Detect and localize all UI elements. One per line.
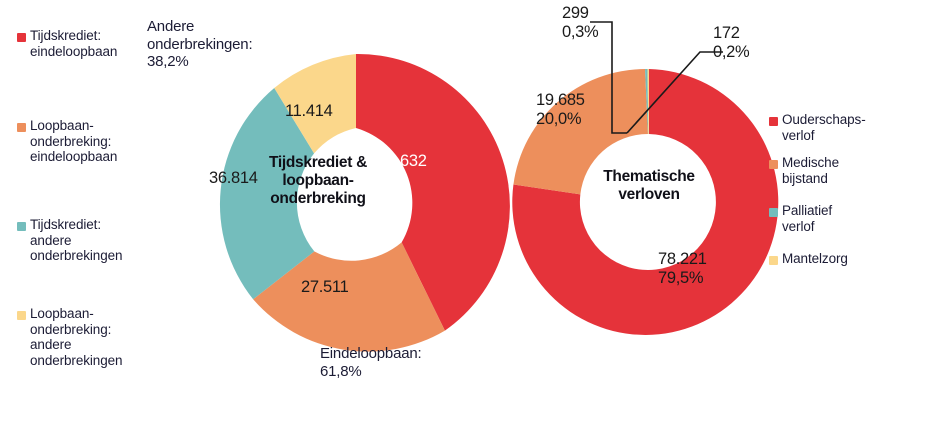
legend-label-ouderschapsverlof: Ouderschaps- verlof xyxy=(782,112,866,143)
legend-swatch-red xyxy=(769,117,778,126)
right-value-red: 78.221 79,5% xyxy=(658,250,707,288)
left-value-red: 50.632 xyxy=(378,152,427,171)
legend-label-palliatief-verlof: Palliatief verlof xyxy=(782,203,832,234)
legend-item-tijdskrediet-andere[interactable]: Tijdskrediet: andere onderbrekingen xyxy=(17,217,122,264)
right-value-teal: 299 0,3% xyxy=(562,4,598,42)
legend-item-loopbaanonderbreking-eindeloopbaan[interactable]: Loopbaan- onderbreking: eindeloopbaan xyxy=(17,118,117,165)
chart-page: Tijdskrediet: eindeloopbaan Loopbaan- on… xyxy=(0,0,945,428)
legend-label-tijdskrediet-eindeloopbaan: Tijdskrediet: eindeloopbaan xyxy=(30,28,117,59)
legend-label-loopbaanonderbreking-andere: Loopbaan- onderbreking: andere onderbrek… xyxy=(30,306,122,368)
legend-item-palliatief-verlof[interactable]: Palliatief verlof xyxy=(769,203,832,234)
legend-swatch-red xyxy=(17,33,26,42)
left-value-orange: 27.511 xyxy=(301,278,348,297)
legend-label-medische-bijstand: Medische bijstand xyxy=(782,155,839,186)
right-donut-center-label: Thematische verloven xyxy=(573,168,725,204)
legend-item-mantelzorg[interactable]: Mantelzorg xyxy=(769,251,848,267)
left-donut-center-label: Tijdskrediet & loopbaan- onderbreking xyxy=(257,154,379,208)
legend-swatch-orange xyxy=(769,160,778,169)
left-annotation-eindeloopbaan: Eindeloopbaan: 61,8% xyxy=(320,345,421,380)
legend-item-loopbaanonderbreking-andere[interactable]: Loopbaan- onderbreking: andere onderbrek… xyxy=(17,306,122,368)
legend-swatch-orange xyxy=(17,123,26,132)
legend-item-ouderschapsverlof[interactable]: Ouderschaps- verlof xyxy=(769,112,866,143)
legend-label-loopbaanonderbreking-eindeloopbaan: Loopbaan- onderbreking: eindeloopbaan xyxy=(30,118,117,165)
legend-item-medische-bijstand[interactable]: Medische bijstand xyxy=(769,155,839,186)
left-annotation-andere-onderbrekingen: Andere onderbrekingen: 38,2% xyxy=(147,18,252,71)
legend-swatch-teal xyxy=(769,208,778,217)
right-value-yellow: 172 0,2% xyxy=(713,24,749,62)
left-value-teal: 36.814 xyxy=(209,169,258,188)
right-value-orange: 19.685 20,0% xyxy=(536,91,585,129)
legend-item-tijdskrediet-eindeloopbaan[interactable]: Tijdskrediet: eindeloopbaan xyxy=(17,28,117,59)
legend-swatch-yellow xyxy=(17,311,26,320)
legend-label-tijdskrediet-andere: Tijdskrediet: andere onderbrekingen xyxy=(30,217,122,264)
left-value-yellow: 11.414 xyxy=(285,102,332,121)
legend-swatch-teal xyxy=(17,222,26,231)
legend-label-mantelzorg: Mantelzorg xyxy=(782,251,848,267)
legend-swatch-yellow xyxy=(769,256,778,265)
